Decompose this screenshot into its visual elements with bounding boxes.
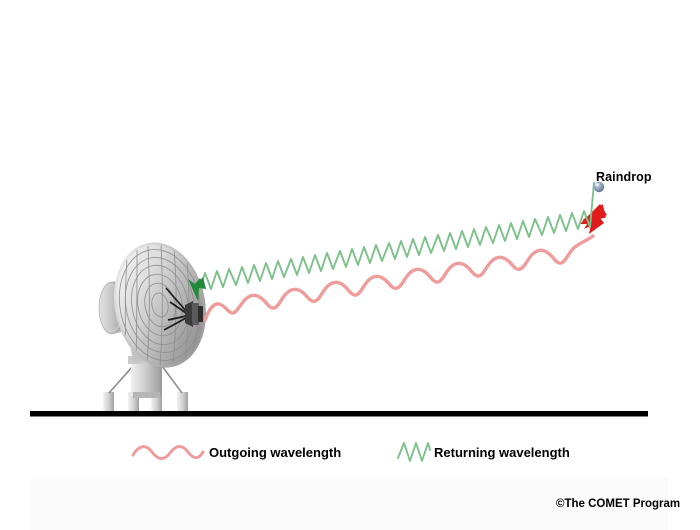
legend-outgoing-swatch [133, 446, 203, 458]
legend-item-outgoing-label: Outgoing wavelength [209, 445, 341, 460]
ground-line [30, 411, 648, 417]
raindrop-label: Raindrop [596, 170, 652, 184]
legend-returning-swatch [398, 443, 430, 461]
returning-wave [188, 183, 594, 301]
legend-item-returning-label: Returning wavelength [434, 445, 570, 460]
copyright-notice: ©The COMET Program [556, 498, 680, 510]
doppler-diagram-svg [0, 0, 700, 530]
diagram-canvas: Raindrop Outgoing wavelength Returning w… [0, 0, 700, 530]
radar-dish [99, 236, 215, 412]
